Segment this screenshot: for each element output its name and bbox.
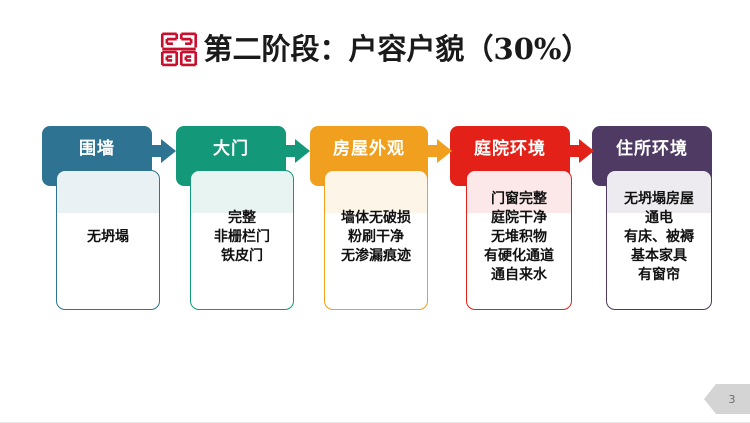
stage-header-label: 房屋外观 xyxy=(333,134,405,159)
stage-header-label: 围墙 xyxy=(79,134,115,159)
stage-card-lines: 无坍塌 xyxy=(57,171,159,247)
right-arrow-icon xyxy=(276,139,310,163)
stage-card-line: 粉刷干净 xyxy=(325,228,427,247)
stage-card-stage-dwelling[interactable]: 无坍塌房屋通电有床、被褥基本家具有窗帘 xyxy=(606,170,712,310)
stage-card-stage-house-exterior[interactable]: 墙体无破损粉刷干净无渗漏痕迹 xyxy=(324,170,428,310)
slide-title-row: 第二阶段：户容户貌（30%） xyxy=(0,30,750,68)
stage-card-line: 完整 xyxy=(191,209,293,228)
stage-header-label: 庭院环境 xyxy=(474,134,546,159)
right-arrow-icon xyxy=(142,139,176,163)
right-arrow-icon xyxy=(560,139,594,163)
stage-card-line: 有床、被褥 xyxy=(607,228,711,247)
stage-card-line: 铁皮门 xyxy=(191,247,293,266)
stage-card-line: 通自来水 xyxy=(467,266,571,285)
page-number-badge: 3 xyxy=(704,384,750,414)
stage-card-line: 基本家具 xyxy=(607,247,711,266)
stage-card-line: 门窗完整 xyxy=(467,190,571,209)
page-number: 3 xyxy=(719,393,736,406)
stage-card-stage-courtyard[interactable]: 门窗完整庭院干净无堆积物有硬化通道通自来水 xyxy=(466,170,572,310)
right-arrow-icon xyxy=(418,139,452,163)
stage-card-lines: 门窗完整庭院干净无堆积物有硬化通道通自来水 xyxy=(467,171,571,284)
page-title: 第二阶段：户容户貌（30%） xyxy=(204,35,591,64)
stage-card-line: 无堆积物 xyxy=(467,228,571,247)
slide-canvas: 第二阶段：户容户貌（30%） 围墙无坍塌大门完整非栅栏门铁皮门房屋外观墙体无破损… xyxy=(0,0,750,423)
stage-card-line: 非栅栏门 xyxy=(191,228,293,247)
stage-card-line: 通电 xyxy=(607,209,711,228)
stage-card-lines: 无坍塌房屋通电有床、被褥基本家具有窗帘 xyxy=(607,171,711,284)
stage-card-stage-wall[interactable]: 无坍塌 xyxy=(56,170,160,310)
chinese-seal-icon xyxy=(160,30,198,68)
stage-card-line: 墙体无破损 xyxy=(325,209,427,228)
stage-card-lines: 墙体无破损粉刷干净无渗漏痕迹 xyxy=(325,171,427,266)
stage-header-label: 住所环境 xyxy=(616,134,688,159)
stage-card-line: 有硬化通道 xyxy=(467,247,571,266)
stage-card-lines: 完整非栅栏门铁皮门 xyxy=(191,171,293,266)
stage-card-line: 无坍塌 xyxy=(57,228,159,247)
stage-card-line: 有窗帘 xyxy=(607,266,711,285)
stage-header-label: 大门 xyxy=(213,134,249,159)
stage-card-stage-gate[interactable]: 完整非栅栏门铁皮门 xyxy=(190,170,294,310)
process-flow: 围墙无坍塌大门完整非栅栏门铁皮门房屋外观墙体无破损粉刷干净无渗漏痕迹庭院环境门窗… xyxy=(42,126,714,312)
stage-card-line: 庭院干净 xyxy=(467,209,571,228)
stage-card-line: 无渗漏痕迹 xyxy=(325,247,427,266)
stage-card-line: 无坍塌房屋 xyxy=(607,190,711,209)
